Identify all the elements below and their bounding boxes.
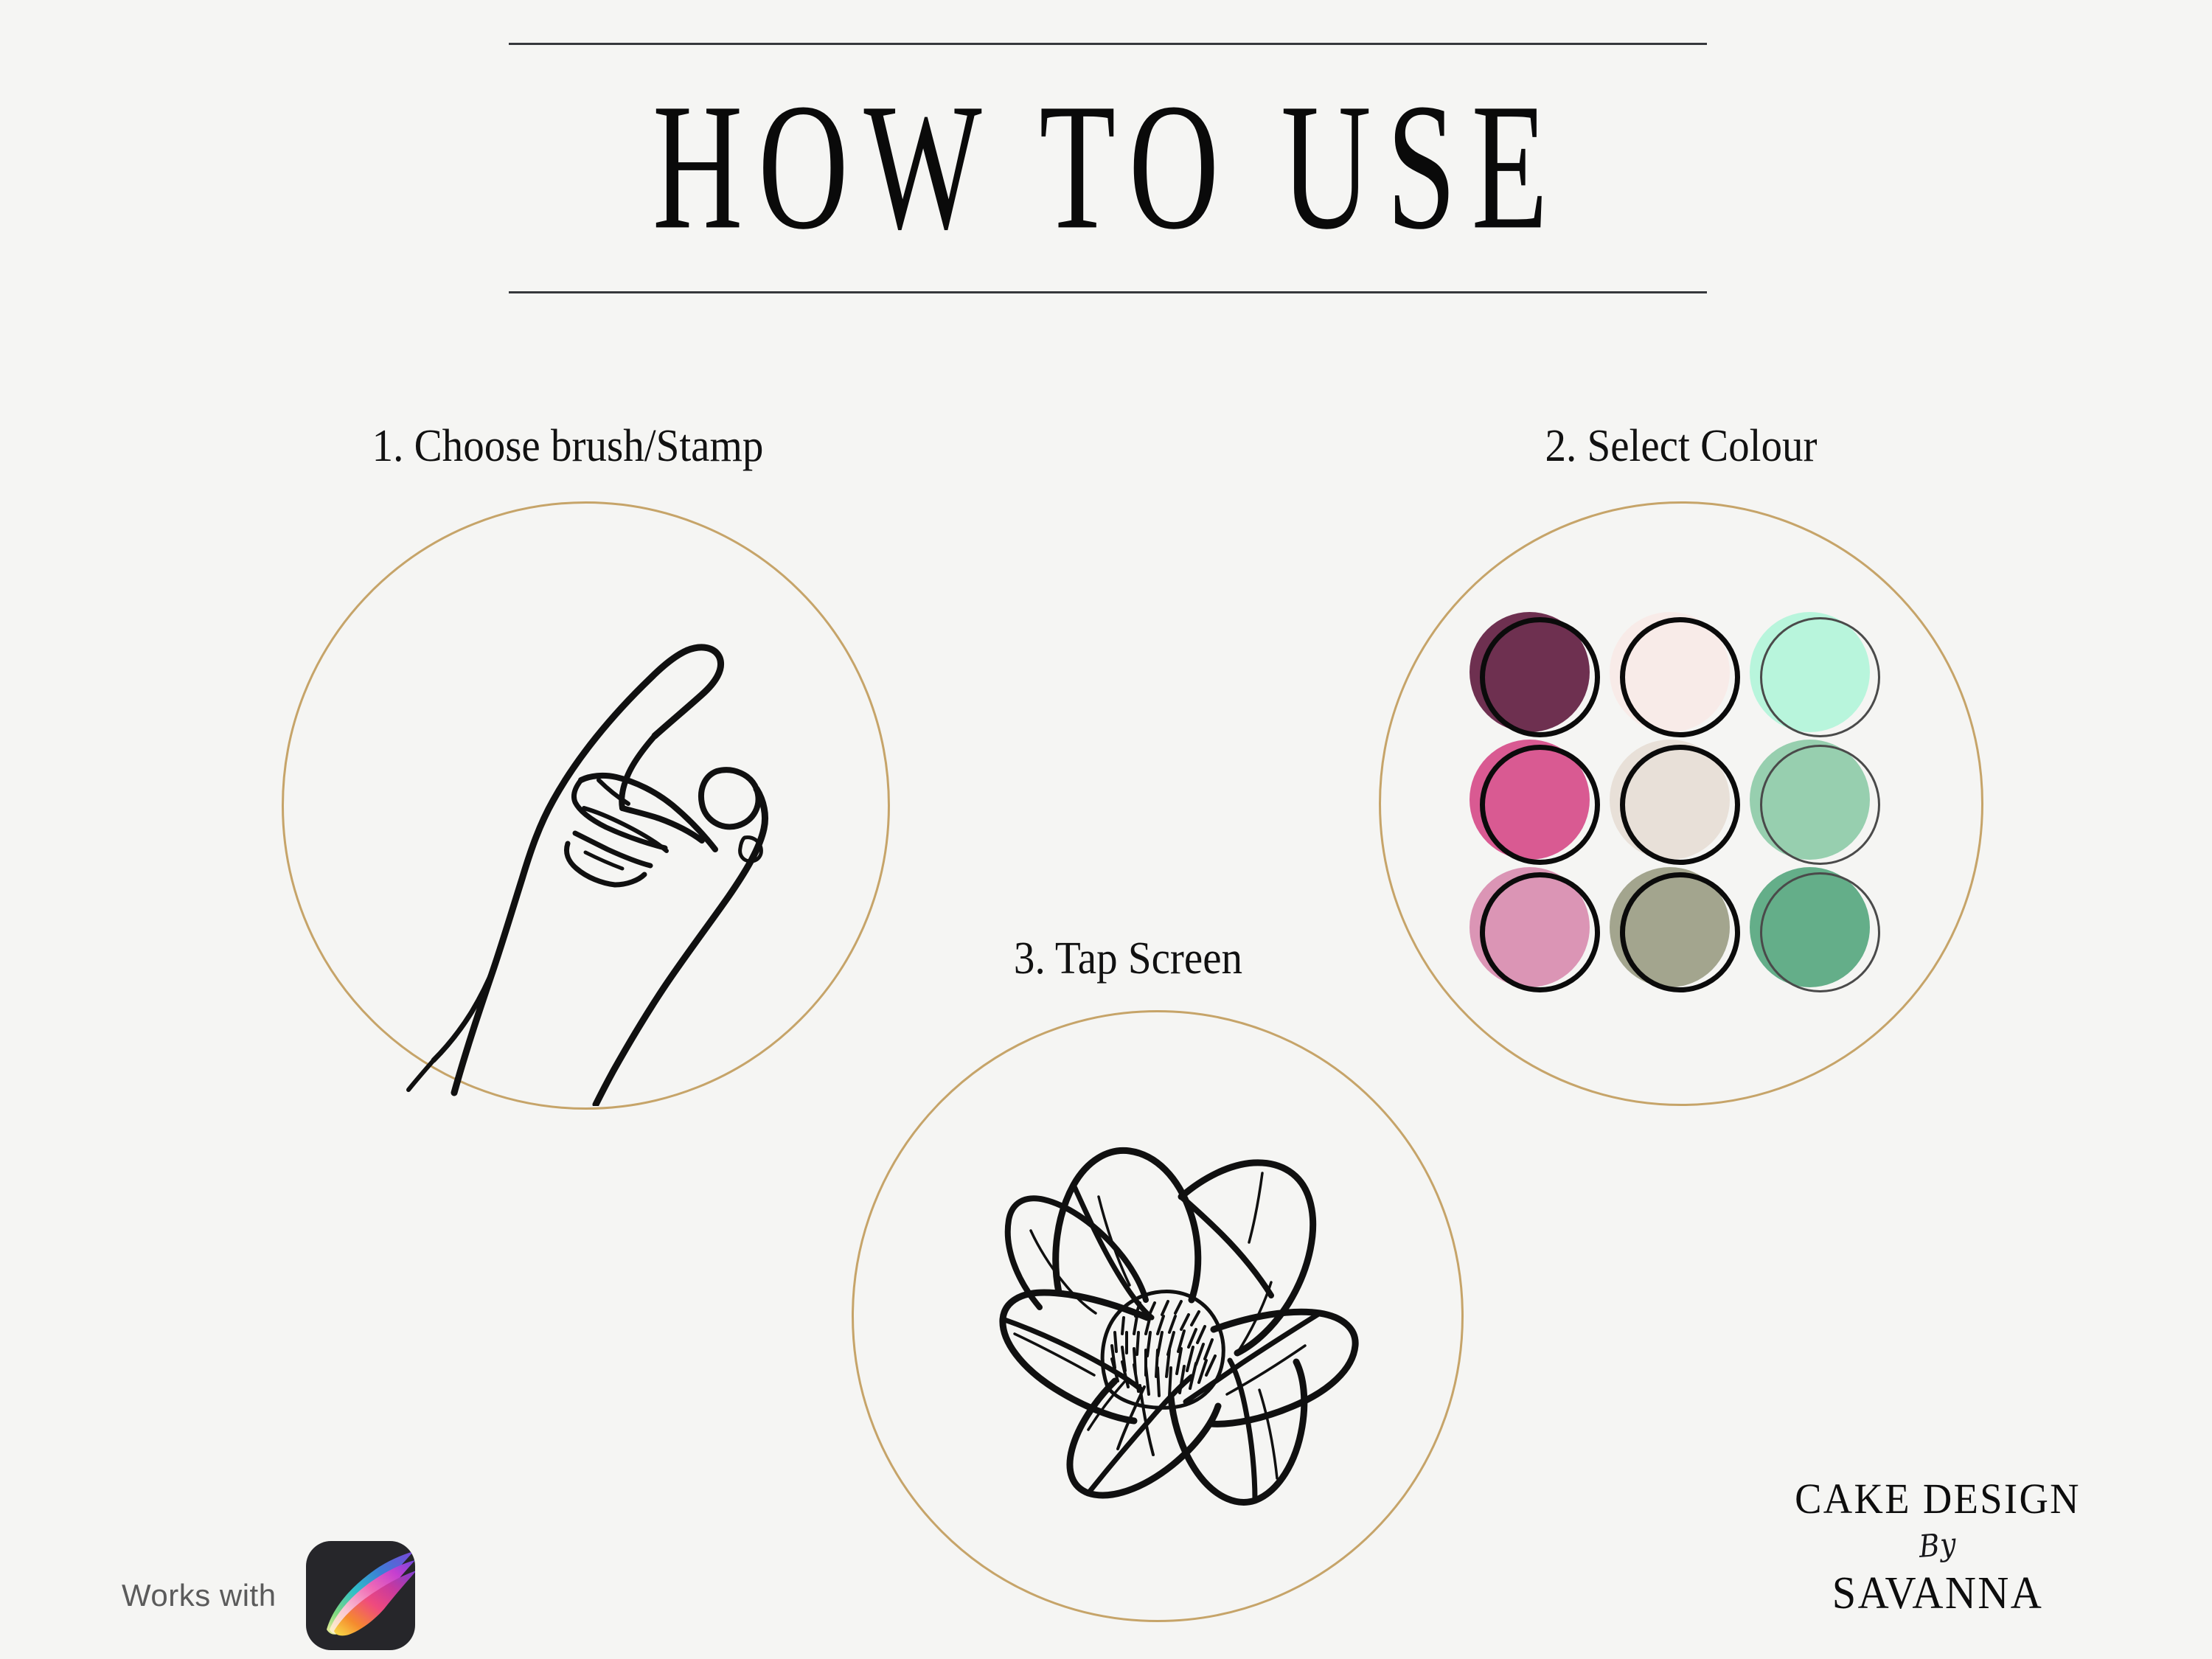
colour-swatch[interactable] [1464, 866, 1604, 993]
colour-swatch[interactable] [1604, 866, 1744, 993]
magnolia-flower-icon [922, 1102, 1394, 1545]
colour-swatch[interactable] [1604, 611, 1744, 738]
poster-canvas: HOW TO USE 1. Choose brush/Stamp [0, 0, 2212, 1659]
step-2-label: 2. Select Colour [1376, 420, 1986, 472]
swatch-ring [1760, 745, 1880, 865]
swatch-ring [1480, 617, 1600, 737]
page-header: HOW TO USE [509, 43, 1707, 293]
works-with-block: Works with [122, 1541, 415, 1650]
swatch-ring [1620, 617, 1740, 737]
brand-line-3: SAVANNA [1778, 1568, 2097, 1619]
header-rule-bottom [509, 291, 1707, 293]
swatch-ring [1620, 872, 1740, 992]
swatch-ring [1760, 617, 1880, 737]
pointing-hand-icon [347, 590, 826, 1106]
works-with-label: Works with [122, 1578, 276, 1613]
colour-swatch[interactable] [1744, 866, 1884, 993]
colour-swatch[interactable] [1744, 738, 1884, 866]
colour-swatch[interactable] [1744, 611, 1884, 738]
swatch-ring [1480, 872, 1600, 992]
swatch-ring [1760, 872, 1880, 992]
swatch-ring [1620, 745, 1740, 865]
colour-swatch[interactable] [1464, 738, 1604, 866]
colour-swatch[interactable] [1604, 738, 1744, 866]
step-3-label: 3. Tap Screen [823, 933, 1433, 984]
brand-logo: CAKE DESIGN By SAVANNA [1768, 1475, 2107, 1619]
colour-swatch-grid[interactable] [1464, 611, 1884, 994]
colour-swatch[interactable] [1464, 611, 1604, 738]
page-title: HOW TO USE [629, 38, 1587, 295]
procreate-icon[interactable] [306, 1541, 415, 1650]
step-1-label: 1. Choose brush/Stamp [262, 420, 873, 472]
step-tap-screen: 3. Tap Screen [796, 933, 1460, 1655]
swatch-ring [1480, 745, 1600, 865]
